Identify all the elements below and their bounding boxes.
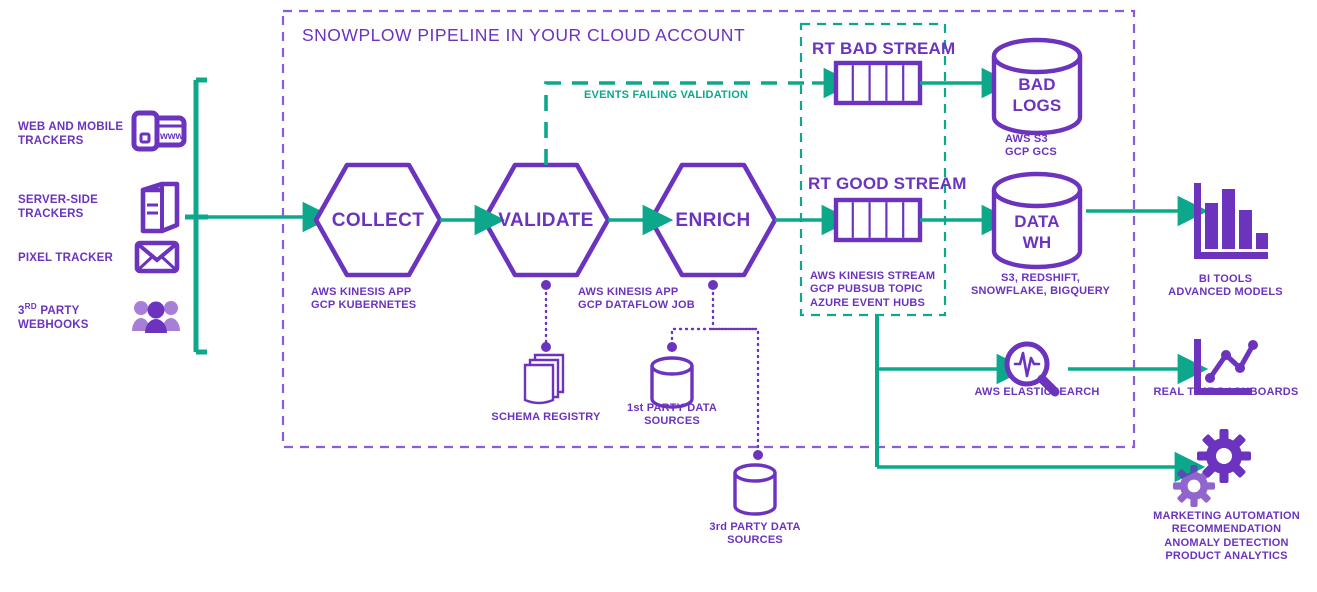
source-label-server-side: SERVER-SIDE TRACKERS	[18, 193, 128, 221]
diagram-canvas: www SNOWPL	[0, 0, 1317, 592]
bi-tools-label: BI TOOLS ADVANCED MODELS	[1148, 273, 1303, 300]
rt-bad-stream-label: RT BAD STREAM	[812, 39, 955, 60]
sources-bracket	[185, 80, 208, 352]
people-icon	[132, 301, 180, 333]
third-party-label: 3rd PARTY DATA SOURCES	[695, 521, 815, 548]
schema-registry-icon	[525, 355, 563, 403]
hexagon-label-validate: VALIDATE	[484, 209, 608, 232]
first-party-cylinder	[652, 358, 692, 407]
events-failing-validation-label: EVENTS FAILING VALIDATION	[584, 89, 748, 102]
rt-good-stream-label: RT GOOD STREAM	[808, 174, 967, 195]
hexagon-label-enrich: ENRICH	[651, 209, 775, 232]
magnifier-pulse-icon	[1007, 344, 1055, 392]
bad-stream-queue	[836, 63, 920, 103]
third-party-cylinder	[735, 465, 775, 514]
aws-elasticsearch-label: AWS ELASTICSEARCH	[962, 386, 1112, 399]
schema-registry-label: SCHEMA REGISTRY	[484, 411, 608, 424]
devices-icon: www	[134, 113, 184, 149]
good-stream-queue	[836, 200, 920, 240]
caption-validate: AWS KINESIS APP GCP DATAFLOW JOB	[578, 286, 718, 313]
svg-text:www: www	[159, 131, 184, 142]
marketing-label: MARKETING AUTOMATION RECOMMENDATION ANOM…	[1138, 510, 1315, 564]
caption-data-wh: S3, REDSHIFT, SNOWFLAKE, BIGQUERY	[963, 272, 1118, 299]
caption-bad-logs: AWS S3 GCP GCS	[1005, 133, 1125, 160]
hexagon-label-collect: COLLECT	[316, 209, 440, 232]
caption-collect: AWS KINESIS APP GCP KUBERNETES	[311, 286, 445, 313]
source-label-third-party-webhooks: 3RD PARTY WEBHOOKS	[18, 302, 128, 332]
gears-icon	[1173, 429, 1251, 507]
caption-good-stream: AWS KINESIS STREAM GCP PUBSUB TOPIC AZUR…	[810, 270, 944, 310]
source-label-pixel-tracker: PIXEL TRACKER	[18, 251, 138, 265]
data-wh-label: DATA WH	[994, 211, 1080, 254]
envelope-icon	[137, 243, 177, 271]
server-icon	[143, 184, 177, 231]
bar-chart-icon	[1194, 183, 1268, 259]
page-title: SNOWPLOW PIPELINE IN YOUR CLOUD ACCOUNT	[302, 25, 745, 46]
bad-logs-label: BAD LOGS	[994, 74, 1080, 117]
real-time-dashboards-label: REAL TIME DASHBOARDS	[1140, 386, 1312, 399]
first-party-label: 1st PARTY DATA SOURCES	[612, 402, 732, 429]
source-label-web-mobile: WEB AND MOBILE TRACKERS	[18, 120, 128, 148]
